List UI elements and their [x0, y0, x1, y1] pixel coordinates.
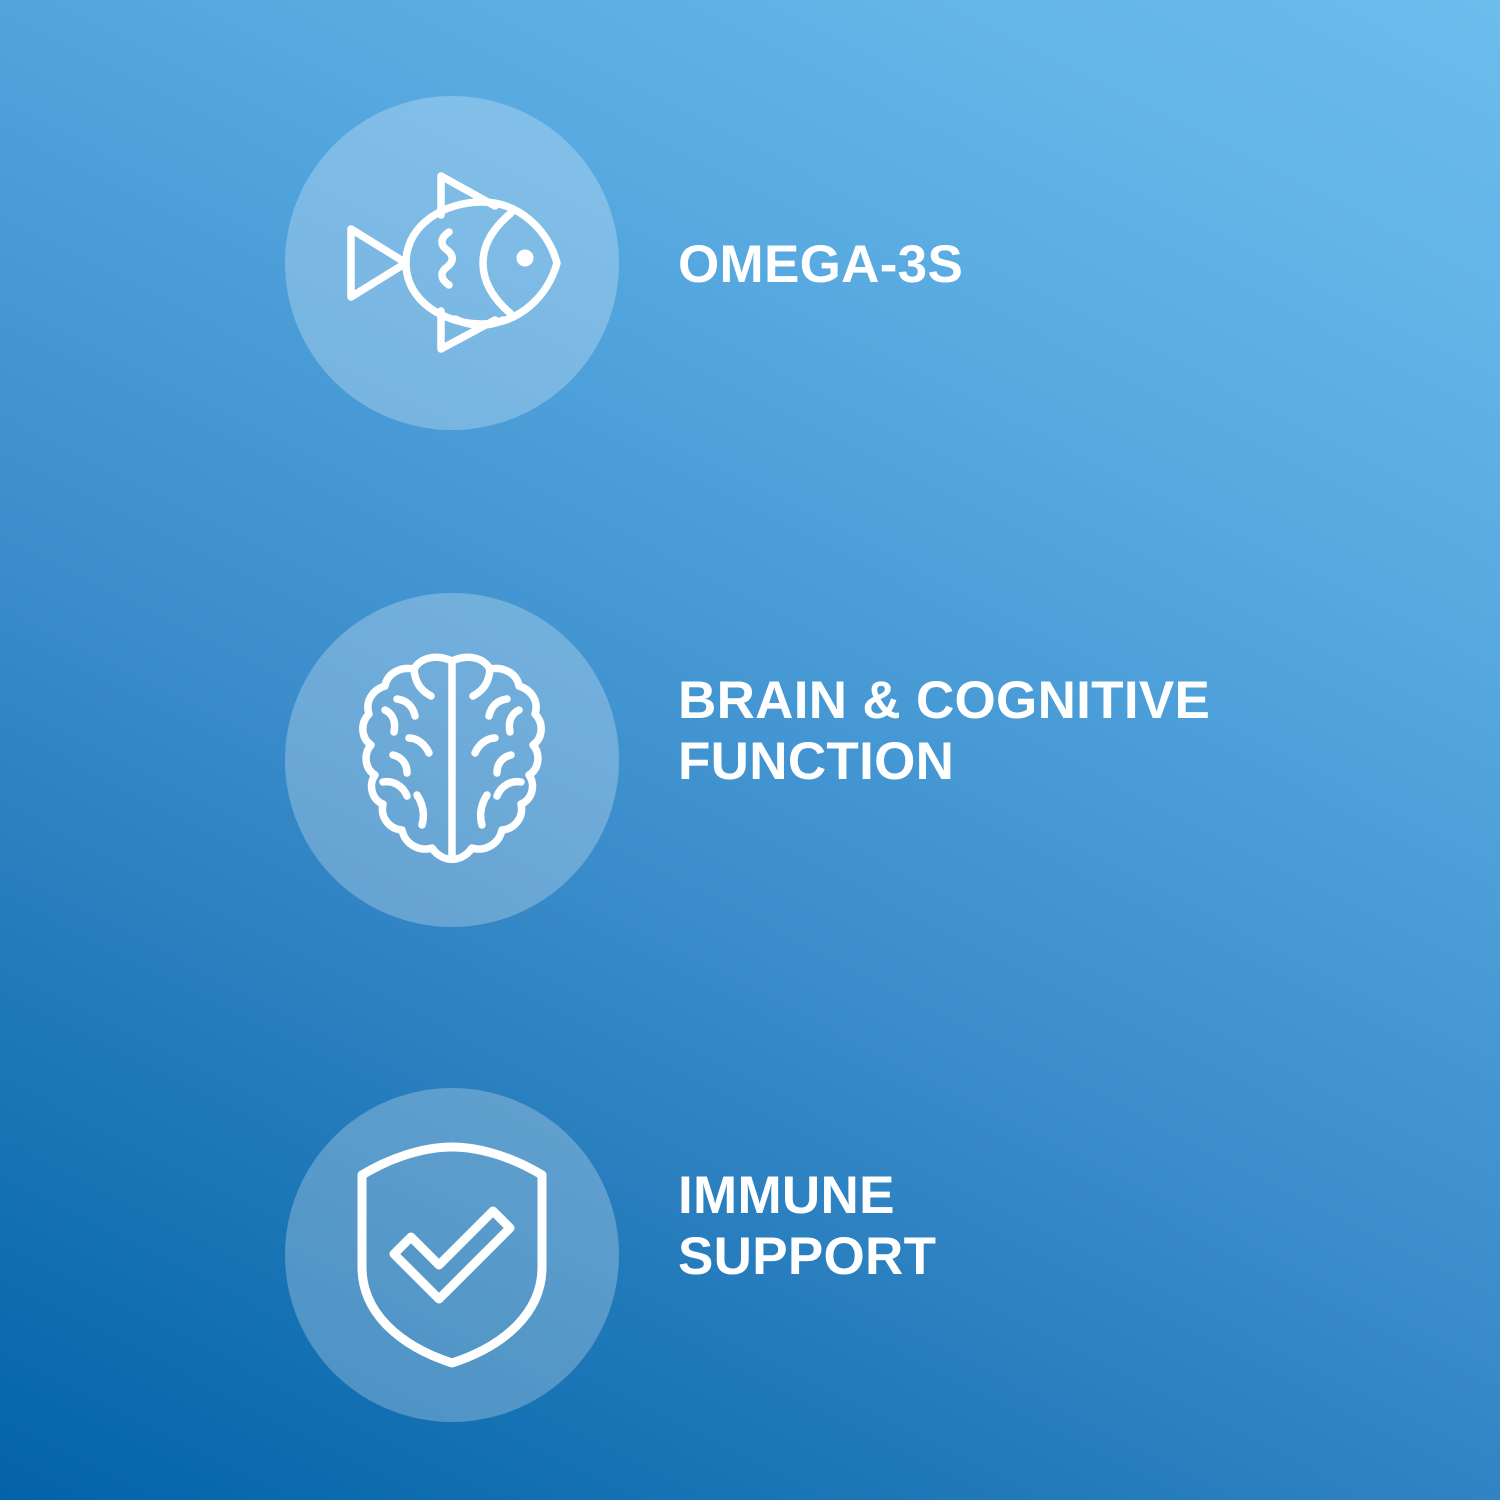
benefit-icon-circle-omega-3s [285, 96, 619, 430]
fish-icon [343, 188, 561, 338]
brain-icon [359, 652, 545, 868]
shield-check-icon [354, 1141, 550, 1369]
infographic-canvas: OMEGA-3S [0, 0, 1500, 1500]
benefit-icon-circle-immune-support [285, 1088, 619, 1422]
benefit-label-immune-support: IMMUNE SUPPORT [678, 1165, 936, 1288]
benefit-label-omega-3s: OMEGA-3S [678, 234, 963, 295]
benefit-icon-circle-brain-cognitive-function [285, 593, 619, 927]
benefit-label-brain-cognitive-function: BRAIN & COGNITIVE FUNCTION [678, 670, 1210, 793]
